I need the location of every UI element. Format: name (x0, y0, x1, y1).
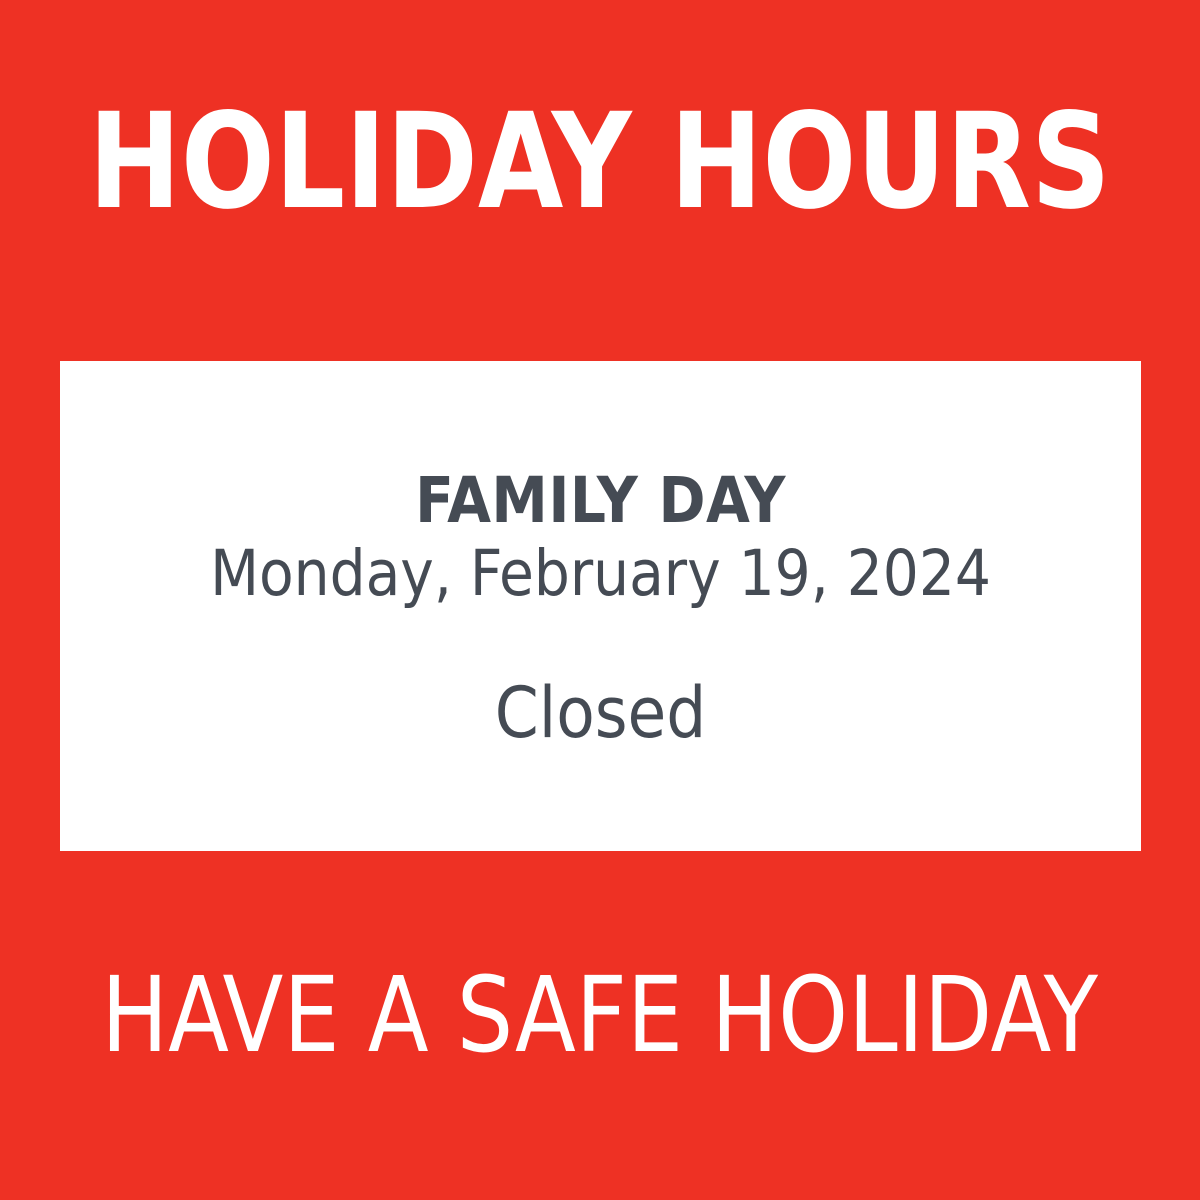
holiday-status: Closed (60, 675, 1141, 752)
footer-message: HAVE A SAFE HOLIDAY (102, 963, 1099, 1067)
holiday-date: Monday, February 19, 2024 (60, 536, 1141, 613)
headline-banner: HOLIDAY HOURS (0, 0, 1200, 361)
footer-banner: HAVE A SAFE HOLIDAY (0, 851, 1200, 1200)
holiday-notice-card: FAMILY DAY Monday, February 19, 2024 Clo… (60, 361, 1141, 851)
sign-headline: HOLIDAY HOURS (89, 96, 1111, 228)
holiday-hours-sign: HOLIDAY HOURS FAMILY DAY Monday, Februar… (0, 0, 1200, 1200)
holiday-name: FAMILY DAY (60, 466, 1141, 537)
holiday-notice-content: FAMILY DAY Monday, February 19, 2024 Clo… (60, 466, 1141, 752)
